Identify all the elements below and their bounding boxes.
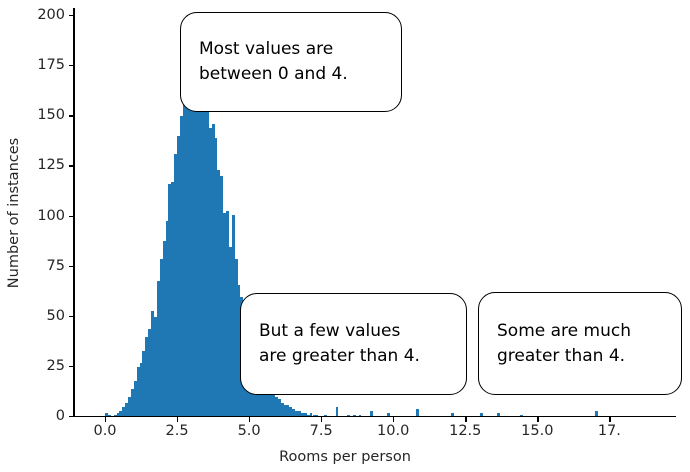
y-tick-label: 0: [56, 408, 65, 424]
x-tick-label: 5.0: [238, 423, 261, 439]
x-tick-mark: [105, 417, 106, 422]
y-axis-label: Number of instances: [6, 113, 22, 313]
y-tick-label: 175: [37, 57, 65, 73]
y-tick-label: 25: [47, 358, 65, 374]
y-tick-mark: [69, 15, 74, 16]
annotation-line: between 0 and 4.: [199, 62, 383, 87]
y-tick-mark: [69, 216, 74, 217]
annotation-line: But a few values: [259, 319, 448, 344]
x-tick-mark: [465, 417, 466, 422]
y-tick-mark: [69, 366, 74, 367]
annotation-line: greater than 4.: [497, 344, 663, 369]
x-tick-label: 15.0: [521, 423, 553, 439]
y-tick-label: 200: [37, 7, 65, 23]
y-tick-label: 50: [47, 308, 65, 324]
annotation-line: are greater than 4.: [259, 344, 448, 369]
callout-most-values: Most values arebetween 0 and 4.: [180, 12, 402, 112]
callout-few-values: But a few valuesare greater than 4.: [240, 293, 467, 395]
y-tick-mark: [69, 165, 74, 166]
x-tick-mark: [177, 417, 178, 422]
y-tick-mark: [69, 65, 74, 66]
x-tick-label: 17.: [598, 423, 621, 439]
y-tick-mark: [69, 266, 74, 267]
y-tick-label: 75: [47, 258, 65, 274]
x-tick-mark: [321, 417, 322, 422]
x-tick-mark: [609, 417, 610, 422]
histogram-figure: 0.02.55.07.510.012.515.017. 025507510012…: [0, 0, 690, 472]
x-axis-spine: [74, 416, 676, 417]
x-tick-label: 2.5: [166, 423, 189, 439]
annotation-line: Most values are: [199, 37, 383, 62]
x-tick-label: 7.5: [310, 423, 333, 439]
y-tick-mark: [69, 416, 74, 417]
y-tick-label: 150: [37, 107, 65, 123]
callout-some-much: Some are muchgreater than 4.: [478, 292, 682, 395]
y-tick-mark: [69, 115, 74, 116]
x-tick-label: 12.5: [449, 423, 481, 439]
y-tick-mark: [69, 316, 74, 317]
y-tick-label: 125: [37, 157, 65, 173]
x-tick-mark: [249, 417, 250, 422]
y-tick-label: 100: [37, 208, 65, 224]
annotation-line: Some are much: [497, 319, 663, 344]
x-axis-label: Rooms per person: [0, 449, 690, 465]
x-tick-label: 0.0: [93, 423, 116, 439]
y-axis-spine: [73, 8, 74, 417]
x-tick-mark: [393, 417, 394, 422]
x-tick-label: 10.0: [377, 423, 409, 439]
x-tick-mark: [537, 417, 538, 422]
